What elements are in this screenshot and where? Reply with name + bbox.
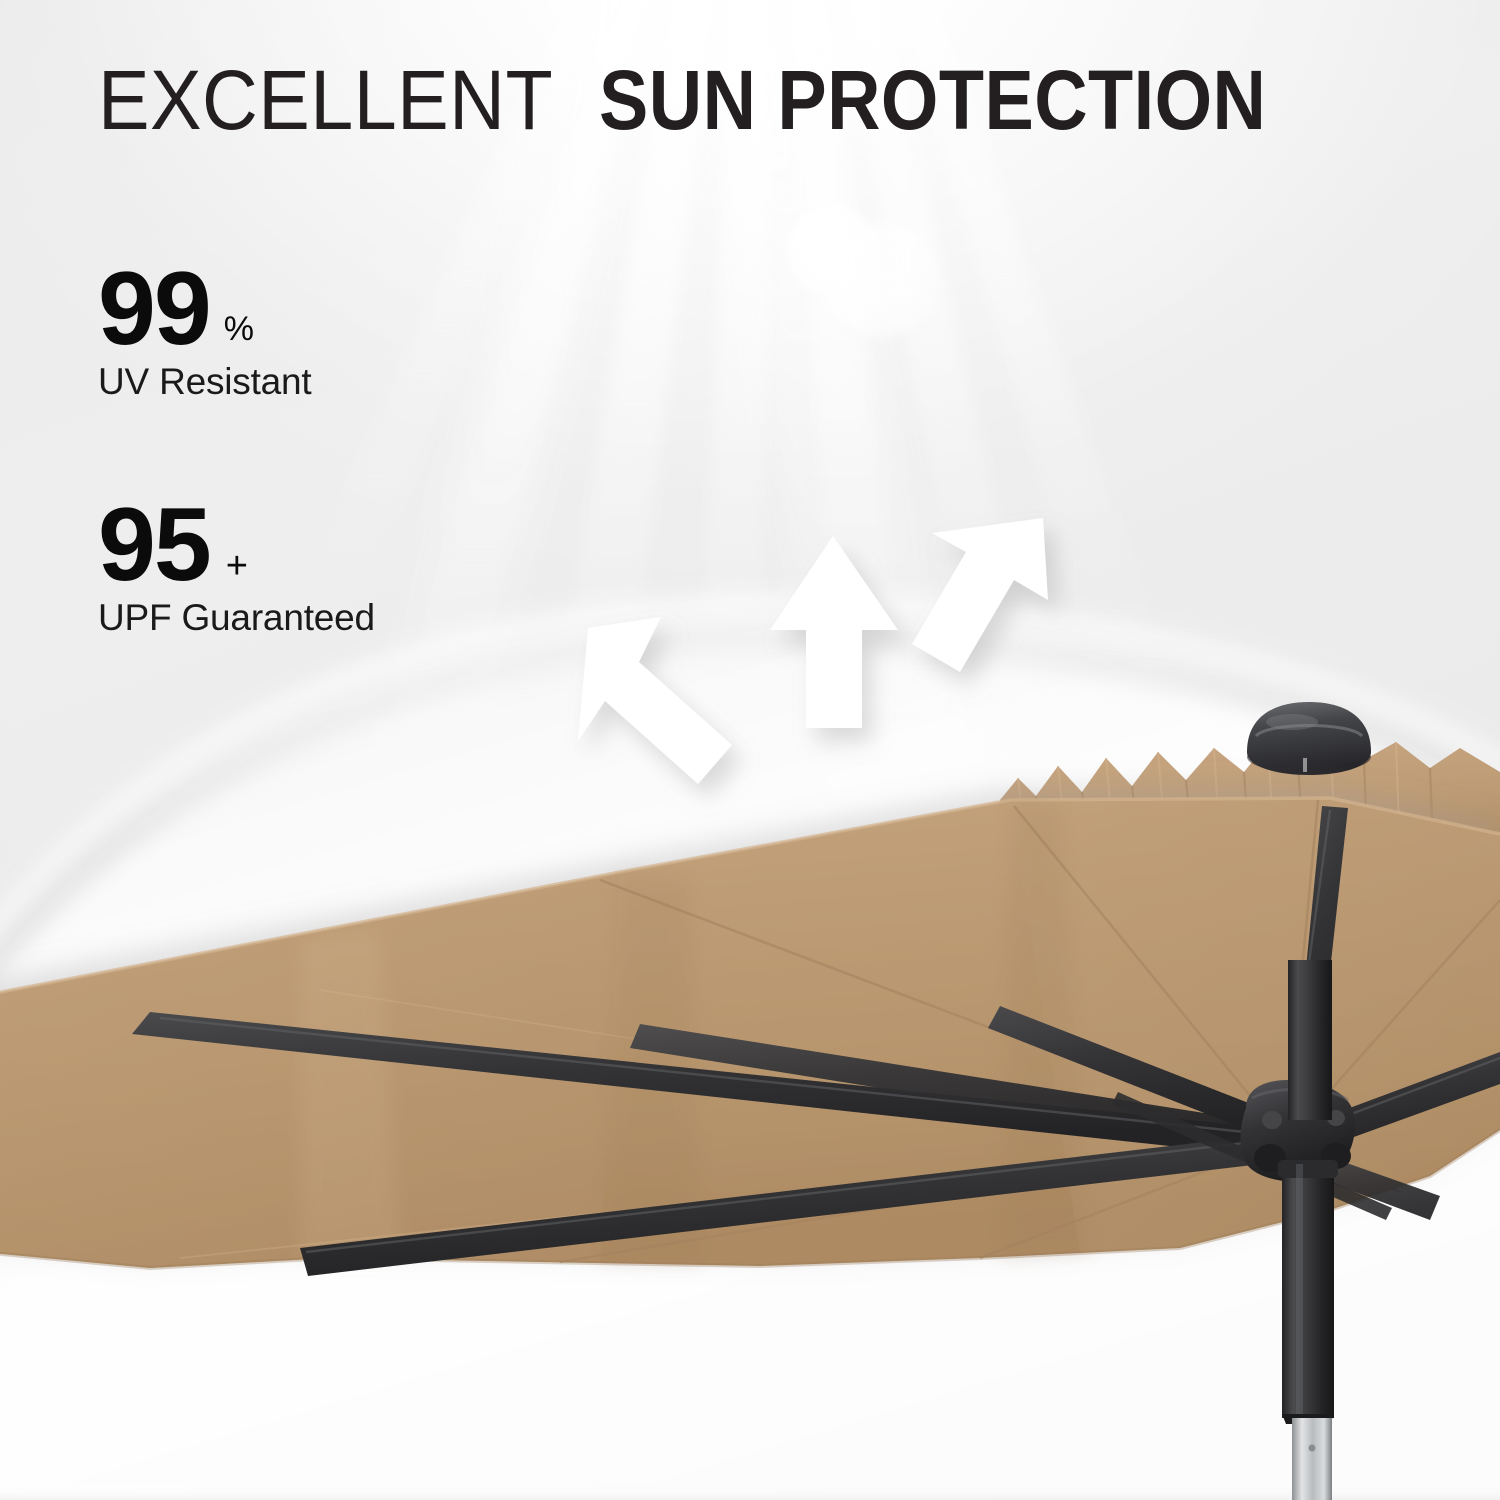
pole-chrome-section (1292, 1418, 1332, 1500)
stat-label: UV Resistant (98, 362, 312, 403)
headline-bold-part: SUN PROTECTION (599, 58, 1266, 142)
stat-unit-plus: + (226, 547, 248, 585)
patio-umbrella (0, 0, 1500, 1500)
umbrella-finial-cap (1247, 702, 1371, 775)
stat-upf-guaranteed: 95 + UPF Guaranteed (98, 498, 375, 638)
headline: EXCELLENTSUN PROTECTION (98, 58, 1357, 142)
stat-uv-resistant: 99 % UV Resistant (98, 262, 312, 402)
stat-label: UPF Guaranteed (98, 598, 375, 639)
stat-unit-percent: % (224, 312, 254, 346)
marketing-banner: EXCELLENTSUN PROTECTION 99 % UV Resistan… (0, 0, 1500, 1500)
stat-number: 95 (98, 498, 210, 594)
stat-figure: 99 % (98, 262, 312, 358)
headline-light-part: EXCELLENT (98, 58, 553, 142)
stat-number: 99 (98, 262, 210, 358)
stat-figure: 95 + (98, 498, 375, 594)
